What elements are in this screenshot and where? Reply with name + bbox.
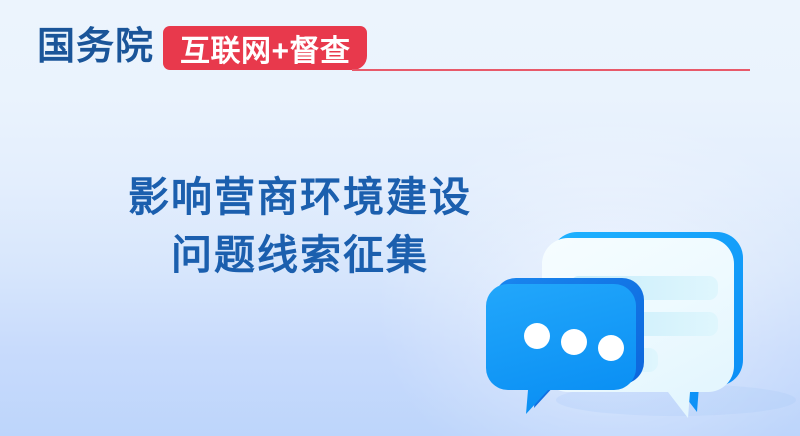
internet-plus-supervision-badge: 互联网+督查 <box>163 26 367 70</box>
typing-dot-3 <box>598 335 624 361</box>
chat-bubbles-illustration <box>486 222 800 436</box>
page-title: 影响营商环境建设 问题线索征集 <box>64 168 536 284</box>
badge-label: 互联网+督查 <box>180 26 351 70</box>
gov-brand-label: 国务院 <box>37 24 154 70</box>
page-title-line-2: 问题线索征集 <box>64 226 536 284</box>
typing-dot-1 <box>524 323 550 349</box>
header-divider-rule <box>352 69 750 71</box>
banner-header: 国务院 互联网+督查 <box>0 0 800 96</box>
page-title-line-1: 影响营商环境建设 <box>64 168 536 226</box>
typing-dot-2 <box>561 329 587 355</box>
promo-banner: 国务院 互联网+督查 影响营商环境建设 问题线索征集 <box>0 0 800 436</box>
